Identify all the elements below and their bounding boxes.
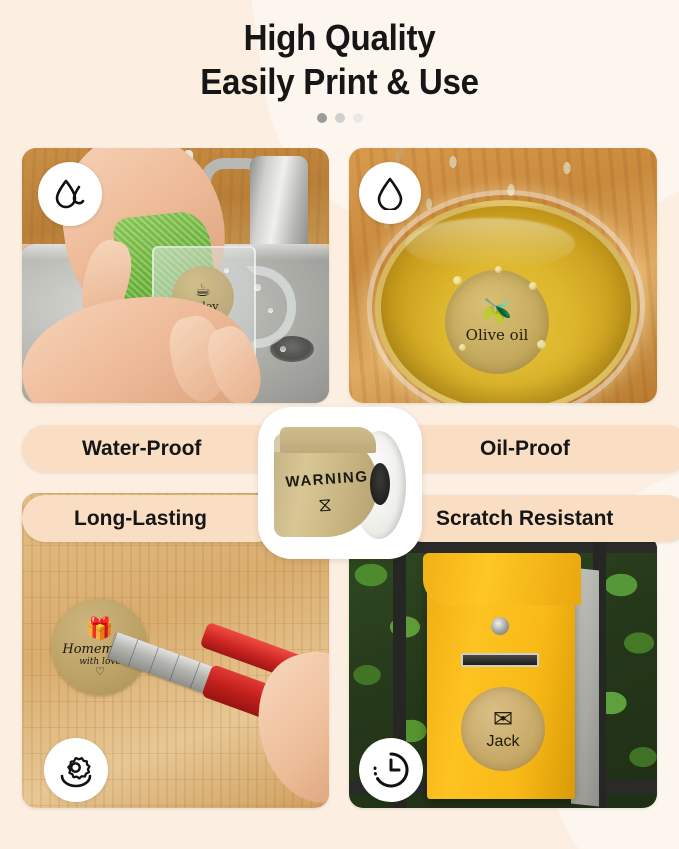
water-droplet bbox=[224, 268, 229, 273]
oil-bubble bbox=[537, 340, 546, 349]
oil-drop-icon-badge bbox=[359, 162, 421, 224]
sticker-on-mailbox: ✉ Jack bbox=[461, 687, 545, 771]
coffee-cup-icon: ☕ bbox=[195, 282, 211, 299]
feature-label-oil-proof: Oil-Proof bbox=[400, 425, 679, 472]
gear-icon-badge bbox=[44, 738, 108, 802]
oil-bubble bbox=[495, 266, 502, 273]
gear-icon bbox=[56, 750, 96, 790]
carousel-dots[interactable] bbox=[0, 113, 679, 123]
envelope-icon: ✉ bbox=[493, 708, 513, 732]
product-infographic: High Quality Easily Print & Use ☕ Kaley bbox=[0, 0, 679, 849]
oil-drop-icon bbox=[375, 176, 405, 210]
clock-icon-badge bbox=[359, 738, 423, 802]
water-droplet bbox=[254, 284, 261, 291]
sticker-name-text: Jack bbox=[487, 733, 520, 751]
feature-label-scratch-resistant: Scratch Resistant bbox=[400, 495, 679, 542]
mailbox-lid bbox=[423, 553, 581, 605]
carousel-dot-3[interactable] bbox=[353, 113, 363, 123]
feature-label-text: Water-Proof bbox=[82, 437, 201, 461]
feature-label-water-proof: Water-Proof bbox=[22, 425, 280, 472]
feature-label-long-lasting: Long-Lasting bbox=[22, 495, 280, 542]
roll-peeled-label bbox=[280, 427, 376, 453]
mailbox-letter-slot bbox=[461, 653, 539, 667]
oil-bubble bbox=[459, 344, 466, 351]
page-title-line-1: High Quality bbox=[27, 16, 652, 60]
carousel-dot-2[interactable] bbox=[335, 113, 345, 123]
feature-label-text: Long-Lasting bbox=[74, 507, 207, 531]
water-droplet bbox=[280, 346, 286, 352]
heart-icon: ♡ bbox=[95, 667, 105, 677]
water-droplet bbox=[268, 308, 273, 313]
header: High Quality Easily Print & Use bbox=[0, 0, 679, 123]
sticker-name-text: Olive oil bbox=[466, 326, 529, 344]
product-sticker-roll: WARNING ⧖ bbox=[258, 407, 422, 559]
gift-box-icon: 🎁 bbox=[86, 618, 113, 640]
mailbox-lock bbox=[491, 617, 509, 635]
fragile-glass-icon: ⧖ bbox=[303, 494, 346, 519]
roll-center-hole bbox=[370, 463, 390, 505]
sticker-roll-graphic: WARNING ⧖ bbox=[274, 427, 406, 539]
water-drops-icon bbox=[52, 176, 88, 212]
feature-label-text: Oil-Proof bbox=[480, 437, 570, 461]
olive-branch-icon: 🫒 bbox=[482, 300, 512, 324]
feature-label-text: Scratch Resistant bbox=[436, 507, 613, 531]
clock-icon bbox=[371, 750, 411, 790]
bowl-highlight bbox=[405, 218, 575, 270]
carousel-dot-1[interactable] bbox=[317, 113, 327, 123]
page-title-line-2: Easily Print & Use bbox=[27, 60, 652, 104]
oil-bubble bbox=[453, 276, 462, 285]
oil-bubble bbox=[529, 282, 537, 290]
water-drops-icon-badge bbox=[38, 162, 102, 226]
